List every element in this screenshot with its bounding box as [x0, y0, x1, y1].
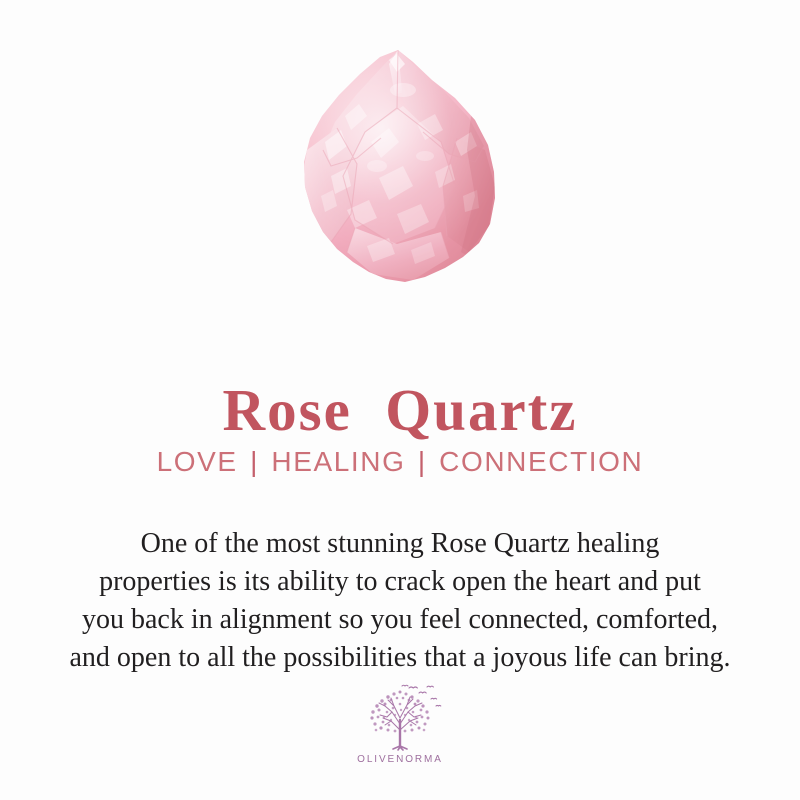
description-line: One of the most stunning Rose Quartz hea…: [30, 525, 770, 563]
product-description: One of the most stunning Rose Quartz hea…: [30, 525, 770, 677]
description-line: properties is its ability to crack open …: [30, 563, 770, 601]
product-title: Rose Quartz: [0, 377, 800, 443]
description-line: and open to all the possibilities that a…: [30, 639, 770, 677]
keyword-separator-1: |: [247, 446, 262, 477]
keyword-separator-2: |: [415, 446, 430, 477]
description-line: you back in alignment so you feel connec…: [30, 601, 770, 639]
tree-with-birds-icon: [357, 684, 443, 752]
product-keywords: LOVE | HEALING | CONNECTION: [0, 445, 800, 479]
crystal-facet-edges: [323, 50, 484, 258]
rose-quartz-crystal-image: [285, 46, 515, 291]
brand-name: OLIVENORMA: [357, 754, 443, 765]
keyword-connection: CONNECTION: [439, 446, 643, 477]
crystal-highlights: [321, 54, 479, 264]
crystal-facets: [285, 46, 515, 291]
keyword-love: LOVE: [157, 446, 238, 477]
crystal-image-container: [0, 0, 800, 310]
brand-logo: OLIVENORMA: [0, 684, 800, 765]
rose-quartz-product-card: Rose Quartz LOVE | HEALING | CONNECTION …: [0, 0, 800, 800]
keyword-healing: HEALING: [271, 446, 405, 477]
